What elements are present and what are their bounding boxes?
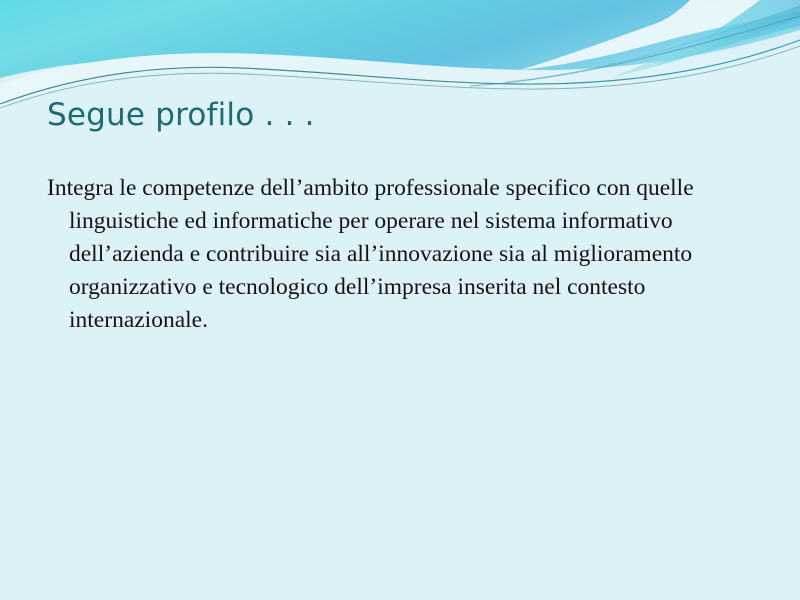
page-title: Segue profilo . . . [47, 97, 747, 133]
body-paragraph: Integra le competenze dell’ambito profes… [47, 172, 737, 337]
wave-banner-decoration [0, 0, 800, 110]
slide-body-text: Integra le competenze dell’ambito profes… [47, 172, 737, 337]
paragraph-text: Integra le competenze dell’ambito profes… [47, 175, 694, 333]
presentation-slide: Segue profilo . . . Integra le competenz… [0, 0, 800, 600]
